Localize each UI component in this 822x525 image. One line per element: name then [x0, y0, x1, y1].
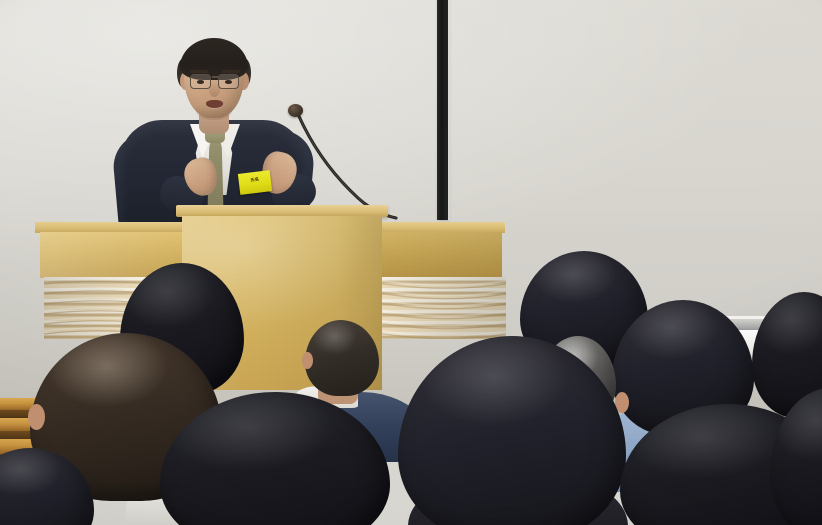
speaker-name-badge: 氏名: [238, 170, 272, 195]
projection-screen-edge: [437, 0, 448, 220]
speaker-chin-shadow: [196, 104, 232, 120]
speaker-nose: [209, 82, 220, 97]
glasses-bridge-icon: [212, 76, 219, 78]
speaker-eye-left: [197, 80, 204, 84]
speaker-eyebrow-left: [190, 70, 208, 73]
speaker-eye-right: [225, 80, 232, 84]
projection-screen-edge-highlight: [448, 0, 451, 220]
microphone-head-icon: [288, 104, 303, 117]
audience-ear-1: [28, 404, 45, 430]
speaker-eyebrow-right: [222, 70, 240, 73]
audience-ear-center: [302, 352, 313, 369]
name-badge-text: 氏名: [241, 175, 267, 183]
lecture-hall-photograph: 氏名: [0, 0, 822, 525]
